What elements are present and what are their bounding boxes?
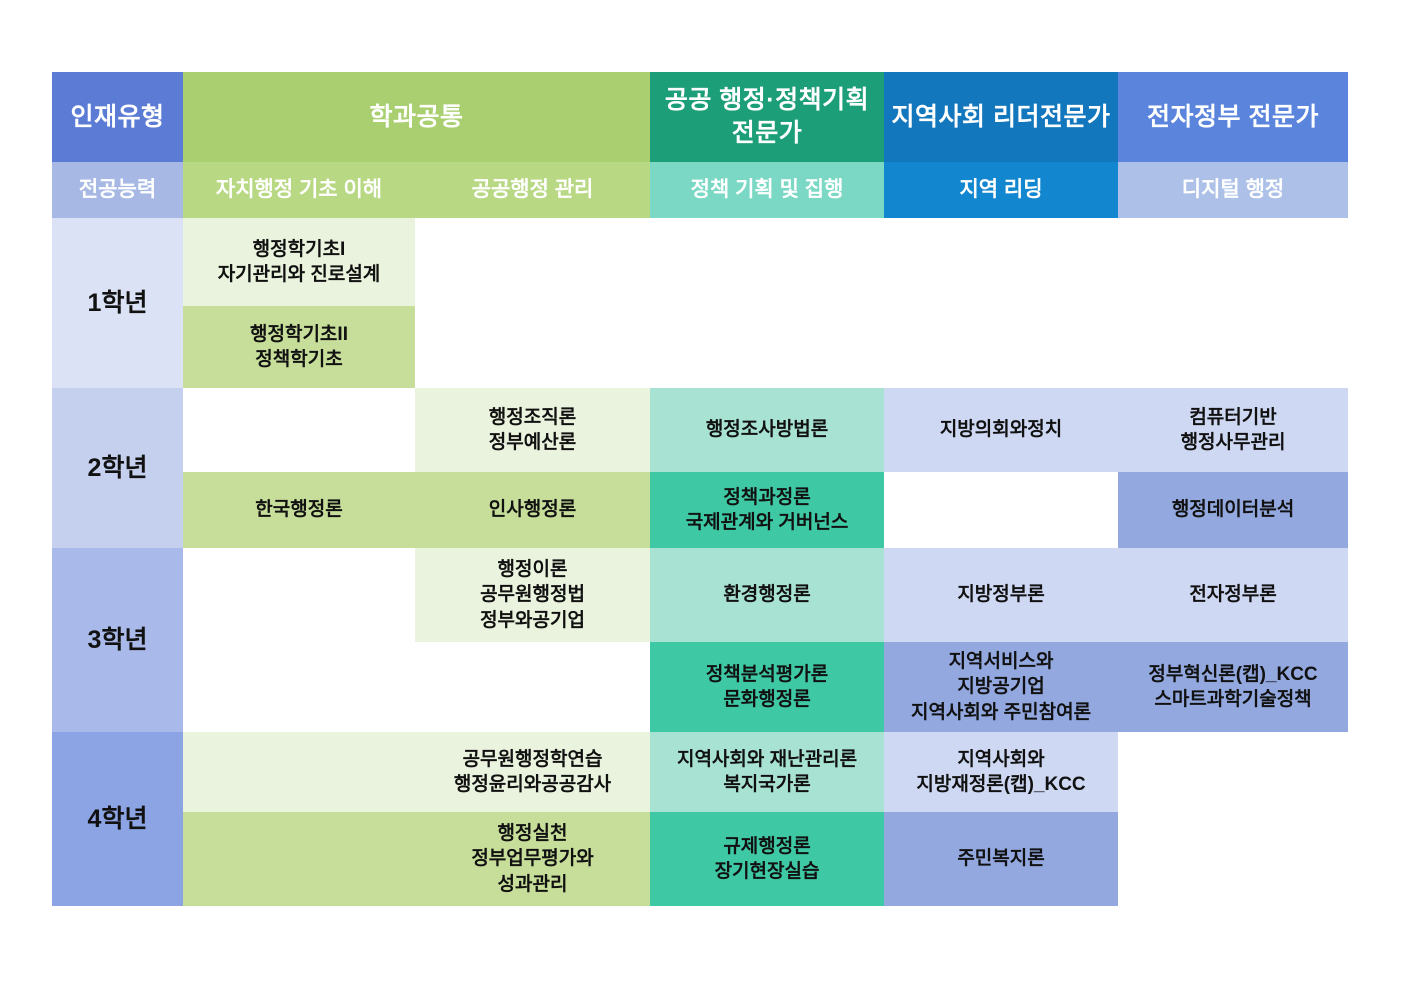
course-name: 정부업무평가와 [415, 846, 650, 871]
course-name: 정부혁신론(캡)_KCC [1118, 662, 1348, 687]
header-talent-line: 공공 행정·정책 [665, 86, 822, 114]
course-cell-y2-r1-c3 [884, 472, 1118, 548]
course-name: 행정이론 [415, 557, 650, 582]
course-cell-y1-r1-c2 [650, 306, 884, 388]
course-cell-y1-r1-c1 [415, 306, 650, 388]
header-competency-5: 디지털 행정 [1118, 162, 1348, 218]
course-name: 정책학기초 [183, 347, 415, 372]
course-name: 행정윤리와공공감사 [415, 772, 650, 797]
table-row: 2학년행정조직론정부예산론행정조사방법론지방의회와정치컴퓨터기반행정사무관리 [52, 388, 1348, 472]
header-talent-3: 지역사회 리더전문가 [884, 72, 1118, 162]
year-label-1: 1학년 [52, 218, 183, 388]
course-cell-y4-r1-c4 [1118, 812, 1348, 906]
course-cell-y3-r0-c4[interactable]: 전자정부론 [1118, 548, 1348, 642]
course-cell-y4-r0-c4 [1118, 732, 1348, 812]
course-cell-y4-r0-c3[interactable]: 지역사회와지방재정론(캡)_KCC [884, 732, 1118, 812]
course-cell-y4-r1-c2[interactable]: 규제행정론장기현장실습 [650, 812, 884, 906]
header-talent-0: 인재유형 [52, 72, 183, 162]
course-name: 주민복지론 [884, 846, 1118, 871]
header-talent-line: 인재유형 [70, 103, 164, 131]
header-competency-2: 공공행정 관리 [415, 162, 650, 218]
year-label-3: 3학년 [52, 548, 183, 732]
course-name: 환경행정론 [650, 582, 884, 607]
course-cell-y4-r1-c0 [183, 812, 415, 906]
course-name: 지방재정론(캡)_KCC [884, 772, 1118, 797]
course-name: 공무원행정학연습 [415, 747, 650, 772]
course-name: 전자정부론 [1118, 582, 1348, 607]
course-name: 행정사무관리 [1118, 430, 1348, 455]
course-cell-y1-r1-c0[interactable]: 행정학기초II정책학기초 [183, 306, 415, 388]
course-cell-y2-r1-c0[interactable]: 한국행정론 [183, 472, 415, 548]
course-cell-y2-r0-c2[interactable]: 행정조사방법론 [650, 388, 884, 472]
course-cell-y3-r1-c1 [415, 642, 650, 732]
course-cell-y1-r0-c2 [650, 218, 884, 306]
course-cell-y4-r1-c3[interactable]: 주민복지론 [884, 812, 1118, 906]
table-row: 한국행정론인사행정론정책과정론국제관계와 거버넌스행정데이터분석 [52, 472, 1348, 548]
course-name: 지역사회와 재난관리론 [650, 747, 884, 772]
course-cell-y1-r0-c0[interactable]: 행정학기초I자기관리와 진로설계 [183, 218, 415, 306]
course-cell-y3-r1-c3[interactable]: 지역서비스와지방공기업지역사회와 주민참여론 [884, 642, 1118, 732]
course-name: 공무원행정법 [415, 582, 650, 607]
course-name: 행정조사방법론 [650, 417, 884, 442]
header-competency-4: 지역 리딩 [884, 162, 1118, 218]
table-row: 행정학기초II정책학기초 [52, 306, 1348, 388]
course-name: 장기현장실습 [650, 859, 884, 884]
course-name: 지역서비스와 [884, 649, 1118, 674]
course-cell-y1-r0-c1 [415, 218, 650, 306]
course-name: 행정조직론 [415, 405, 650, 430]
table-row: 행정실천정부업무평가와성과관리규제행정론장기현장실습주민복지론 [52, 812, 1348, 906]
course-cell-y3-r0-c3[interactable]: 지방정부론 [884, 548, 1118, 642]
course-name: 인사행정론 [415, 497, 650, 522]
course-name: 행정데이터분석 [1118, 497, 1348, 522]
course-name: 정책과정론 [650, 485, 884, 510]
course-cell-y2-r1-c1[interactable]: 인사행정론 [415, 472, 650, 548]
course-name: 규제행정론 [650, 834, 884, 859]
course-cell-y2-r0-c3[interactable]: 지방의회와정치 [884, 388, 1118, 472]
course-cell-y4-r0-c1[interactable]: 공무원행정학연습행정윤리와공공감사 [415, 732, 650, 812]
course-cell-y1-r0-c4 [1118, 218, 1348, 306]
header-competency-0: 전공능력 [52, 162, 183, 218]
course-cell-y3-r0-c0 [183, 548, 415, 642]
course-cell-y2-r0-c1[interactable]: 행정조직론정부예산론 [415, 388, 650, 472]
course-cell-y2-r1-c2[interactable]: 정책과정론국제관계와 거버넌스 [650, 472, 884, 548]
header-row-competencies: 전공능력자치행정 기초 이해공공행정 관리정책 기획 및 집행지역 리딩디지털 … [52, 162, 1348, 218]
table-row: 3학년행정이론공무원행정법정부와공기업환경행정론지방정부론전자정부론 [52, 548, 1348, 642]
course-name: 정부예산론 [415, 430, 650, 455]
course-name: 정부와공기업 [415, 608, 650, 633]
course-name: 지방공기업 [884, 674, 1118, 699]
course-cell-y1-r1-c4 [1118, 306, 1348, 388]
course-cell-y2-r1-c4[interactable]: 행정데이터분석 [1118, 472, 1348, 548]
course-name: 지역사회와 주민참여론 [884, 700, 1118, 725]
course-name: 행정실천 [415, 821, 650, 846]
table-row: 4학년공무원행정학연습행정윤리와공공감사지역사회와 재난관리론복지국가론지역사회… [52, 732, 1348, 812]
course-cell-y3-r0-c2[interactable]: 환경행정론 [650, 548, 884, 642]
course-name: 자기관리와 진로설계 [183, 262, 415, 287]
course-cell-y3-r1-c2[interactable]: 정책분석평가론문화행정론 [650, 642, 884, 732]
course-cell-y4-r1-c1[interactable]: 행정실천정부업무평가와성과관리 [415, 812, 650, 906]
course-cell-y4-r0-c0 [183, 732, 415, 812]
course-cell-y2-r0-c4[interactable]: 컴퓨터기반행정사무관리 [1118, 388, 1348, 472]
header-talent-line: 전자정부 전문가 [1147, 103, 1319, 131]
course-name: 성과관리 [415, 872, 650, 897]
table-row: 정책분석평가론문화행정론지역서비스와지방공기업지역사회와 주민참여론정부혁신론(… [52, 642, 1348, 732]
course-name: 문화행정론 [650, 687, 884, 712]
table-row: 1학년행정학기초I자기관리와 진로설계 [52, 218, 1348, 306]
header-talent-4: 전자정부 전문가 [1118, 72, 1348, 162]
course-cell-y4-r0-c2[interactable]: 지역사회와 재난관리론복지국가론 [650, 732, 884, 812]
header-talent-line: 전문가 [1040, 103, 1111, 131]
course-name: 지방정부론 [884, 582, 1118, 607]
curriculum-table: 인재유형학과공통공공 행정·정책기획 전문가지역사회 리더전문가전자정부 전문가… [52, 72, 1348, 906]
year-label-2: 2학년 [52, 388, 183, 548]
course-name: 스마트과학기술정책 [1118, 687, 1348, 712]
header-competency-3: 정책 기획 및 집행 [650, 162, 884, 218]
course-cell-y1-r1-c3 [884, 306, 1118, 388]
course-name: 지역사회와 [884, 747, 1118, 772]
course-cell-y2-r0-c0 [183, 388, 415, 472]
year-label-4: 4학년 [52, 732, 183, 906]
course-cell-y3-r1-c4[interactable]: 정부혁신론(캡)_KCC스마트과학기술정책 [1118, 642, 1348, 732]
course-name: 복지국가론 [650, 772, 884, 797]
course-cell-y1-r0-c3 [884, 218, 1118, 306]
course-name: 컴퓨터기반 [1118, 405, 1348, 430]
course-name: 정책분석평가론 [650, 662, 884, 687]
course-cell-y3-r1-c0 [183, 642, 415, 732]
course-name: 행정학기초I [183, 237, 415, 262]
header-talent-1: 학과공통 [183, 72, 650, 162]
header-competency-1: 자치행정 기초 이해 [183, 162, 415, 218]
course-name: 국제관계와 거버넌스 [650, 510, 884, 535]
course-name: 지방의회와정치 [884, 417, 1118, 442]
header-row-talent-types: 인재유형학과공통공공 행정·정책기획 전문가지역사회 리더전문가전자정부 전문가 [52, 72, 1348, 162]
course-cell-y3-r0-c1[interactable]: 행정이론공무원행정법정부와공기업 [415, 548, 650, 642]
header-talent-2: 공공 행정·정책기획 전문가 [650, 72, 884, 162]
course-name: 한국행정론 [183, 497, 415, 522]
header-talent-line: 지역사회 리더 [892, 103, 1040, 131]
course-name: 행정학기초II [183, 322, 415, 347]
header-talent-line: 학과공통 [370, 103, 464, 131]
